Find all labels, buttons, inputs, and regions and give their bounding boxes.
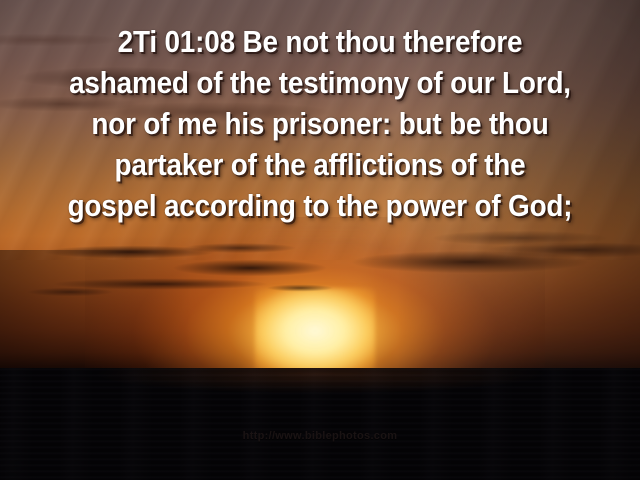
verse-text: 2Ti 01:08 Be not thou therefore ashamed … — [32, 21, 608, 226]
site-watermark: http://www.biblephotos.com — [0, 430, 640, 442]
sunset-verse-image: 2Ti 01:08 Be not thou therefore ashamed … — [0, 0, 640, 480]
